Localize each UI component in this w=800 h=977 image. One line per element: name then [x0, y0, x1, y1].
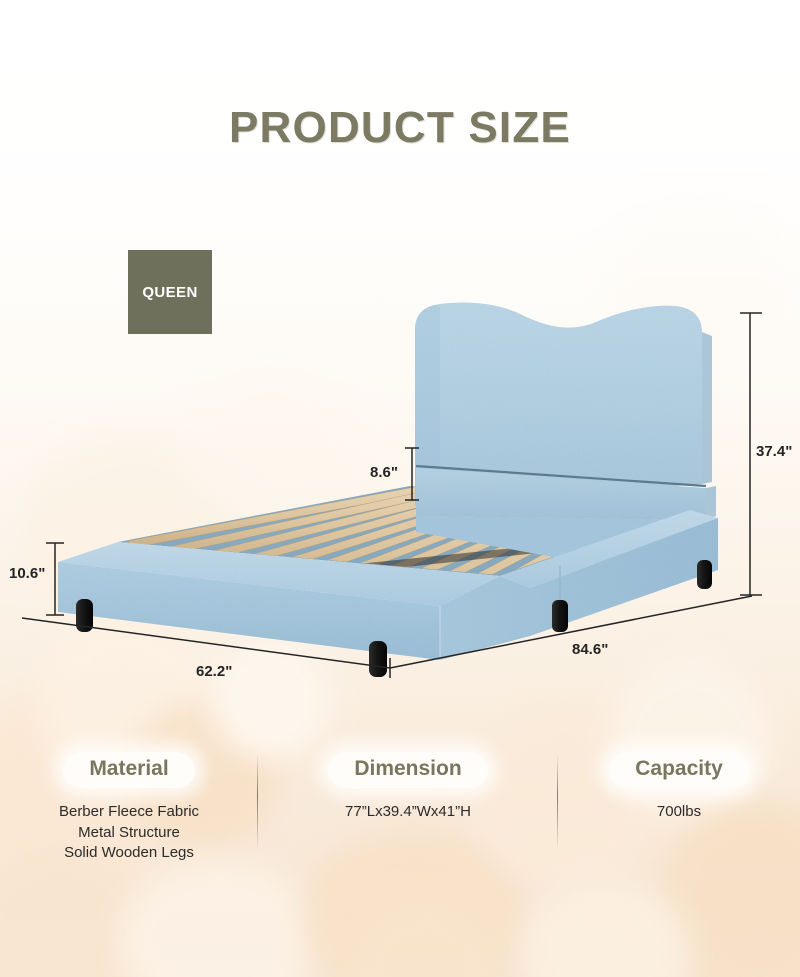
dimension-label-height-total: 37.4" — [756, 443, 792, 460]
page-title: PRODUCT SIZE — [0, 103, 800, 153]
spec-body-material: Berber Fleece Fabric Metal Structure Sol… — [59, 802, 199, 864]
spec-body-capacity: 700lbs — [657, 802, 701, 823]
spec-label-material: Material — [63, 752, 194, 788]
spec-card-dimension: Dimension 77”Lx39.4”Wx41”H — [258, 752, 558, 872]
spec-divider — [557, 755, 558, 847]
dimension-label-length: 84.6" — [572, 641, 608, 658]
headboard-side-face — [702, 332, 712, 484]
bed-leg — [697, 560, 712, 589]
spec-card-row: Material Berber Fleece Fabric Metal Stru… — [0, 752, 800, 872]
spec-label-dimension: Dimension — [328, 752, 487, 788]
spec-card-material: Material Berber Fleece Fabric Metal Stru… — [0, 752, 258, 872]
bed-leg — [369, 641, 387, 677]
spec-line: Metal Structure — [59, 823, 199, 844]
spec-card-capacity: Capacity 700lbs — [558, 752, 800, 872]
product-size-infographic: PRODUCT SIZE QUEEN — [0, 0, 800, 977]
dimension-label-frame-height: 10.6" — [9, 565, 45, 582]
dimension-label-headboard-panel: 8.6" — [370, 464, 398, 481]
spec-line: 77”Lx39.4”Wx41”H — [345, 802, 471, 823]
spec-label-capacity: Capacity — [609, 752, 749, 788]
dimension-label-width: 62.2" — [196, 663, 232, 680]
spec-line: 700lbs — [657, 802, 701, 823]
spec-line: Berber Fleece Fabric — [59, 802, 199, 823]
bed-diagram — [0, 270, 800, 700]
spec-body-dimension: 77”Lx39.4”Wx41”H — [345, 802, 471, 823]
spec-line: Solid Wooden Legs — [59, 843, 199, 864]
spec-divider — [257, 755, 258, 847]
headboard-lower-side — [706, 486, 716, 520]
bed-leg — [552, 600, 568, 632]
